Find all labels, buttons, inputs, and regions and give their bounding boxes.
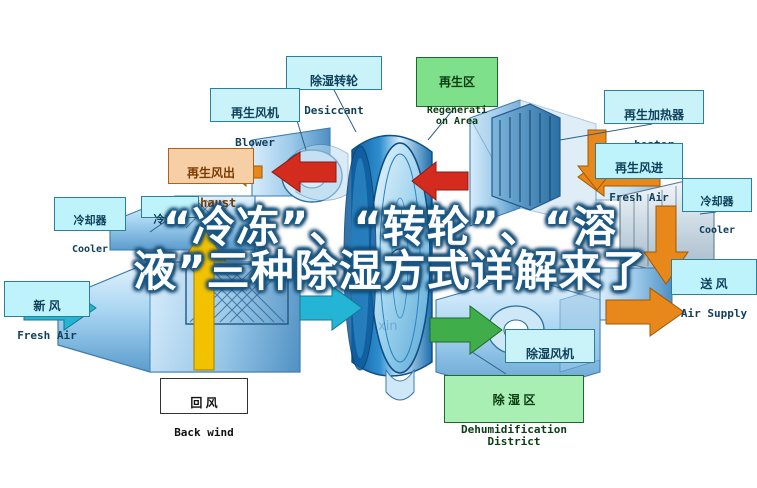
- label-back-wind-cn: 回 风: [164, 397, 244, 410]
- label-fresh-air-regeneration-in-cn: 再生风进: [599, 162, 679, 175]
- label-dehumidification-district-cn: 除 湿 区: [448, 394, 580, 407]
- label-dehumidification-blower: 除湿风机 Blower: [505, 329, 595, 363]
- diagram-canvas: xin: [0, 0, 757, 488]
- label-cooler-mid-cn: 冷却器: [145, 215, 195, 227]
- label-cooler-right-cn: 冷却器: [686, 197, 748, 209]
- label-desiccant-rotor: 除湿转轮 Desiccant: [286, 56, 382, 90]
- label-cooler-right-en: Cooler: [686, 226, 748, 237]
- label-dehumidification-district-en: Dehumidification District: [448, 424, 580, 448]
- label-cooler-mid: 冷却器: [141, 196, 199, 218]
- label-cooler-left-en: Cooler: [58, 245, 122, 256]
- label-regeneration-blower-cn: 再生风机: [214, 107, 296, 120]
- label-back-wind: 回 风 Back wind: [160, 378, 248, 414]
- label-fresh-air-en: Fresh Air: [8, 330, 86, 342]
- label-cooler-left-cn: 冷却器: [58, 216, 122, 228]
- label-regeneration-heater-cn: 再生加热器: [608, 109, 700, 122]
- label-regeneration-area-cn: 再生区: [420, 76, 494, 89]
- label-dehumidification-district: 除 湿 区 Dehumidification District: [444, 375, 584, 423]
- label-fresh-air-cn: 新 风: [8, 300, 86, 313]
- label-fresh-air-regeneration-in: 再生风进 Fresh Air: [595, 143, 683, 179]
- label-regeneration-area: 再生区 Regenerati on Area: [416, 57, 498, 107]
- label-desiccant-rotor-cn: 除湿转轮: [290, 75, 378, 88]
- label-fresh-air-regeneration-in-en: Fresh Air: [599, 192, 679, 204]
- label-regeneration-heater: 再生加热器 heater: [604, 90, 704, 124]
- label-desiccant-rotor-en: Desiccant: [290, 105, 378, 117]
- label-regeneration-blower: 再生风机 Blower: [210, 88, 300, 122]
- label-air-supply-cn: 送 风: [675, 278, 753, 291]
- label-dehumidification-blower-cn: 除湿风机: [509, 348, 591, 361]
- svg-text:xin: xin: [378, 319, 398, 334]
- label-air-supply-en: Air Supply: [675, 308, 753, 320]
- label-fresh-air: 新 风 Fresh Air: [4, 281, 90, 317]
- label-regeneration-area-en: Regenerati on Area: [420, 106, 494, 128]
- label-air-supply: 送 风 Air Supply: [671, 259, 757, 295]
- label-exhaust-air: 再生风出 Exhaust: [168, 148, 254, 184]
- label-exhaust-air-cn: 再生风出: [172, 167, 250, 180]
- label-cooler-left: 冷却器 Cooler: [54, 197, 126, 231]
- label-back-wind-en: Back wind: [164, 427, 244, 439]
- label-cooler-right: 冷却器 Cooler: [682, 178, 752, 212]
